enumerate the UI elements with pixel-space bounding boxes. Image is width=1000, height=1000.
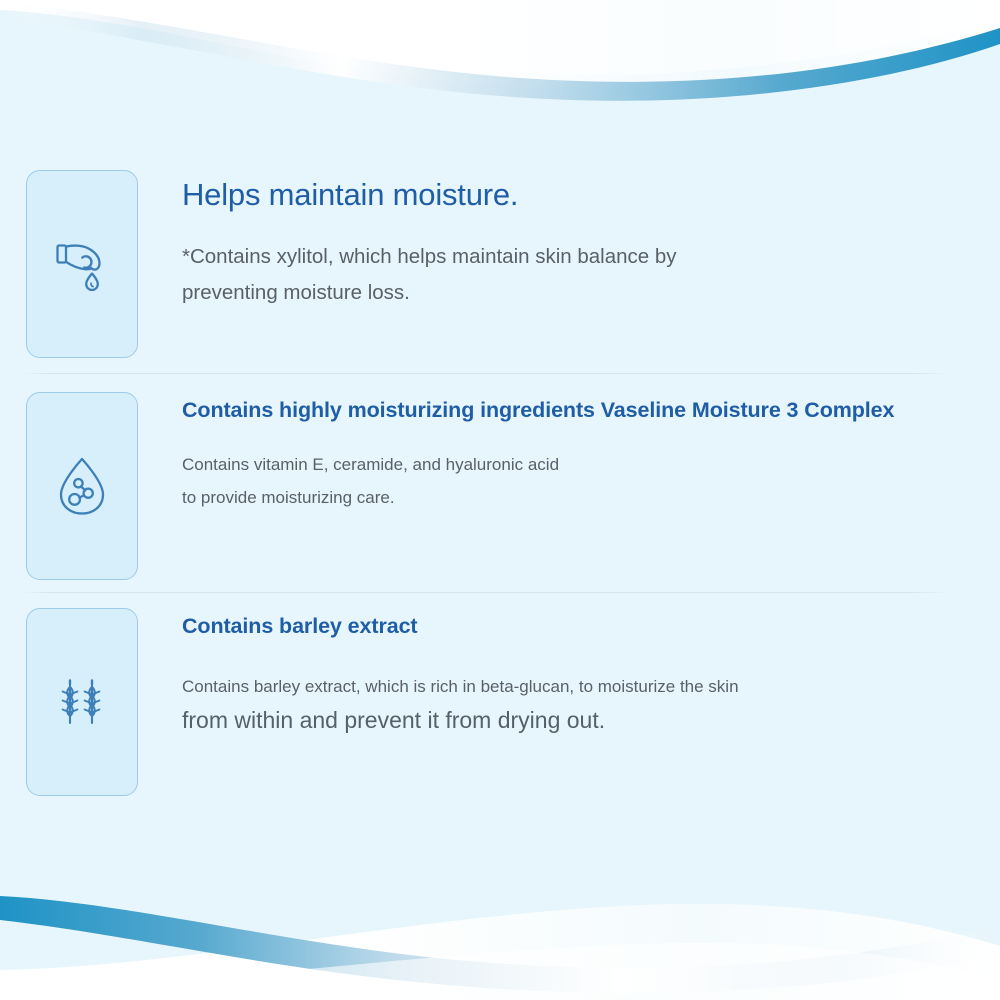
feature-body-line: Contains vitamin E, ceramide, and hyalur… xyxy=(182,448,974,481)
barley-stalks-icon xyxy=(47,667,117,737)
feature-icon-card xyxy=(26,170,138,358)
water-drop-molecule-icon xyxy=(47,451,117,521)
feature-body-line: to provide moisturizing care. xyxy=(182,481,974,514)
feature-icon-card xyxy=(26,608,138,796)
feature-row: Contains highly moisturizing ingredients… xyxy=(26,392,974,580)
section-divider xyxy=(22,592,950,593)
section-divider xyxy=(22,373,950,374)
feature-text-block: Contains highly moisturizing ingredients… xyxy=(138,392,974,514)
feature-row: Contains barley extract Contains barley … xyxy=(26,608,974,796)
bottom-wave-decoration xyxy=(0,840,1000,1000)
feature-body-line: preventing moisture loss. xyxy=(182,275,974,311)
feature-row: Helps maintain moisture. *Contains xylit… xyxy=(26,170,974,358)
feature-title: Contains barley extract xyxy=(182,614,974,640)
feature-title: Contains highly moisturizing ingredients… xyxy=(182,398,974,424)
hand-water-drop-icon xyxy=(47,229,117,299)
top-wave-decoration xyxy=(0,0,1000,150)
feature-body-line: *Contains xylitol, which helps maintain … xyxy=(182,239,974,275)
feature-body-line: from within and prevent it from drying o… xyxy=(182,703,974,738)
feature-title: Helps maintain moisture. xyxy=(182,176,974,213)
feature-icon-card xyxy=(26,392,138,580)
feature-text-block: Helps maintain moisture. *Contains xylit… xyxy=(138,170,974,311)
infographic-page: Helps maintain moisture. *Contains xylit… xyxy=(0,0,1000,1000)
feature-text-block: Contains barley extract Contains barley … xyxy=(138,608,974,737)
feature-body-line: Contains barley extract, which is rich i… xyxy=(182,670,974,703)
